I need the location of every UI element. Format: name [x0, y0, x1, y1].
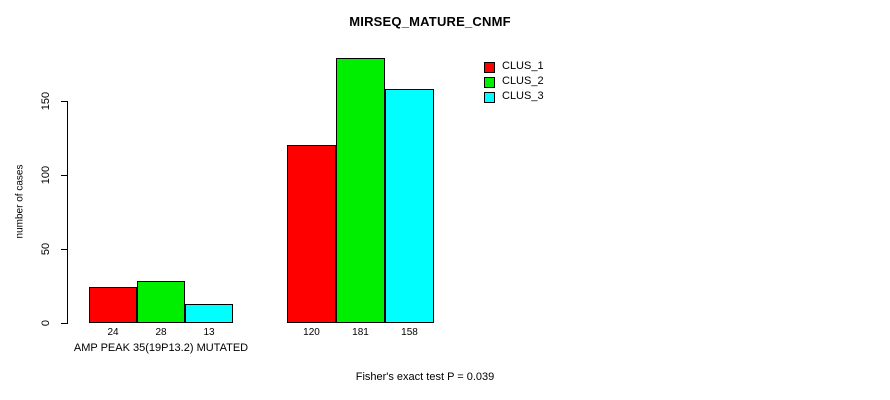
y-axis-line: [67, 101, 68, 324]
bar-group2-clus1: [287, 145, 336, 323]
group-label-1: AMP PEAK 35(19P13.2) MUTATED: [41, 342, 281, 354]
bar-group1-clus1: [89, 287, 137, 323]
bar-value-group2-clus2: 181: [336, 327, 385, 338]
y-tick-0: [61, 323, 67, 324]
y-tick-label-100: 100: [40, 155, 52, 195]
legend-label-clus3: CLUS_3: [502, 90, 544, 102]
bar-value-group2-clus1: 120: [287, 327, 336, 338]
chart-title: MIRSEQ_MATURE_CNMF: [0, 14, 875, 29]
legend-label-clus1: CLUS_1: [502, 60, 544, 72]
y-tick-50: [61, 249, 67, 250]
y-tick-label-0: 0: [40, 303, 52, 343]
bar-group2-clus3: [385, 89, 434, 323]
legend-swatch-clus3: [484, 92, 495, 103]
y-tick-label-50: 50: [40, 229, 52, 269]
y-tick-150: [61, 101, 67, 102]
y-tick-label-150: 150: [40, 81, 52, 121]
bar-group1-clus2: [137, 281, 185, 323]
bar-value-group1-clus3: 13: [185, 327, 233, 338]
y-tick-100: [61, 175, 67, 176]
bar-group1-clus3: [185, 304, 233, 323]
bar-group2-clus2: [336, 58, 385, 323]
legend-swatch-clus1: [484, 62, 495, 73]
bar-value-group1-clus2: 28: [137, 327, 185, 338]
legend-label-clus2: CLUS_2: [502, 75, 544, 87]
bar-chart: MIRSEQ_MATURE_CNMF 0 50 100 150 number o…: [0, 0, 890, 400]
legend-swatch-clus2: [484, 77, 495, 88]
bar-value-group1-clus1: 24: [89, 327, 137, 338]
y-axis-title: number of cases: [15, 147, 26, 257]
footer-annotation: Fisher's exact test P = 0.039: [0, 371, 870, 383]
bar-value-group2-clus3: 158: [385, 327, 434, 338]
